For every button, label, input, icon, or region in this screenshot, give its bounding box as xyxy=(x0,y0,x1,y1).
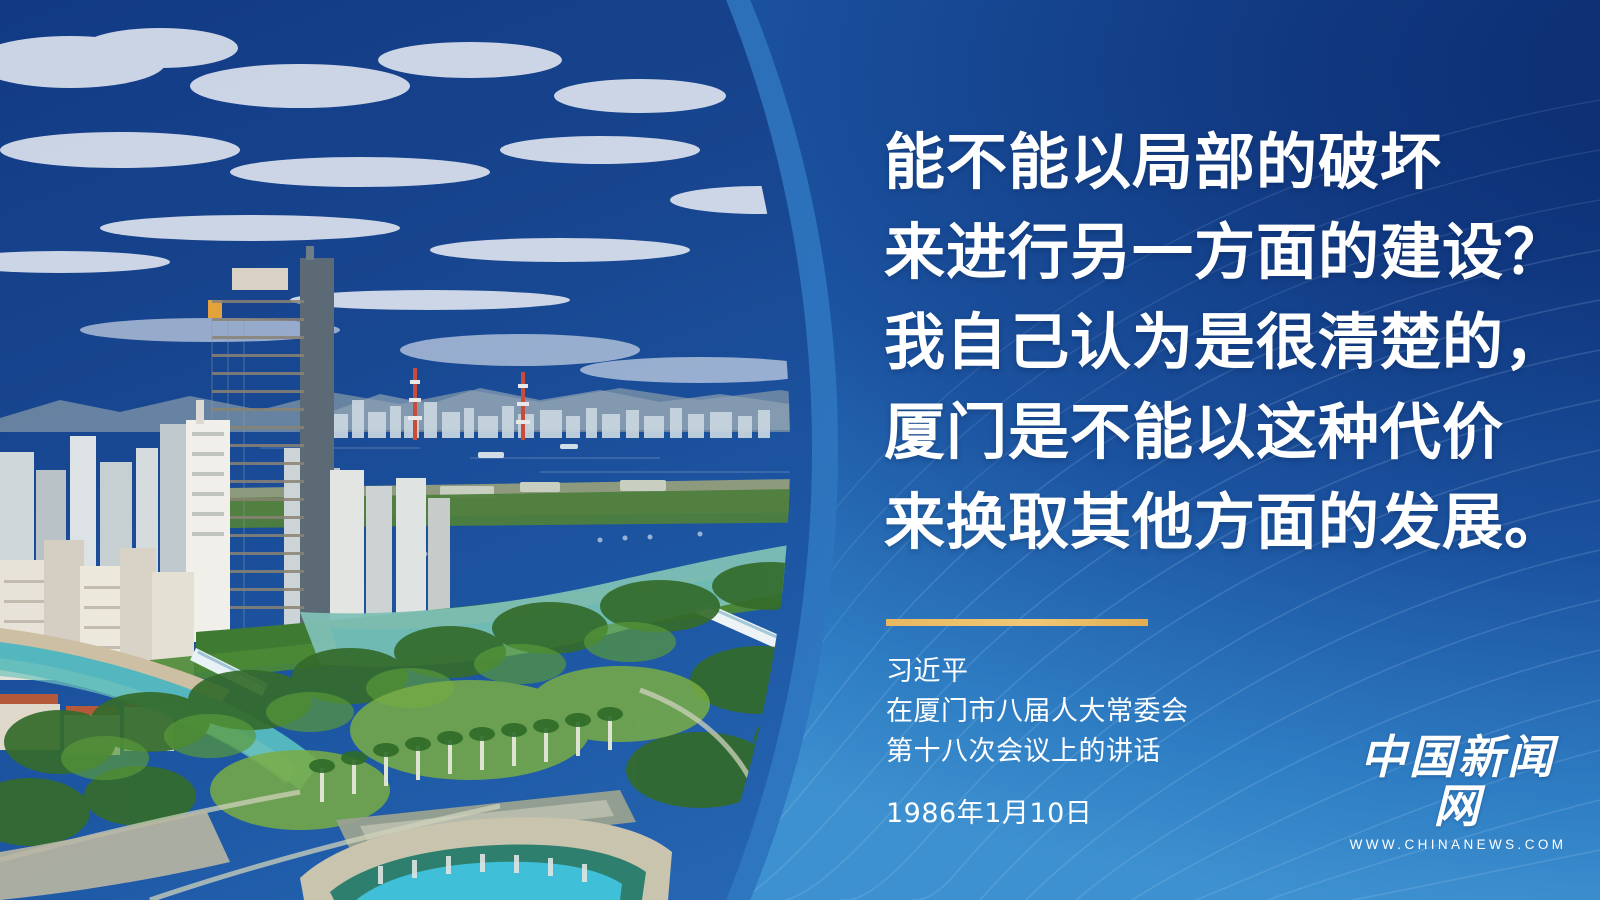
quote-line-1: 能不能以局部的破坏 xyxy=(884,118,1584,208)
quote-block: 能不能以局部的破坏 来进行另一方面的建设？ 我自己认为是很清楚的， 厦门是不能以… xyxy=(884,118,1584,568)
xiamen-cityscape-photo: 0%" stop-color="#2f86cf"/> 38%" stop-col… xyxy=(0,0,860,900)
chinanews-name-cn: 中国新闻网 xyxy=(1344,733,1572,830)
photo-panel: 0%" stop-color="#2f86cf"/> 38%" stop-col… xyxy=(0,0,860,900)
gold-divider xyxy=(886,619,1148,626)
chinanews-url: WWW.CHINANEWS.COM xyxy=(1344,837,1572,852)
quote-line-2: 来进行另一方面的建设？ xyxy=(884,208,1584,298)
quote-line-3: 我自己认为是很清楚的， xyxy=(884,298,1584,388)
poster-canvas: 0%" stop-color="#2f86cf"/> 38%" stop-col… xyxy=(0,0,1600,900)
chinanews-logo[interactable]: 中国新闻网 WWW.CHINANEWS.COM xyxy=(1344,733,1572,852)
quote-line-5: 来换取其他方面的发展。 xyxy=(884,478,1584,568)
attribution-occasion-line-1: 在厦门市八届人大常委会 xyxy=(886,692,1526,732)
attribution-speaker: 习近平 xyxy=(886,652,1526,692)
quote-line-4: 厦门是不能以这种代价 xyxy=(884,388,1584,478)
